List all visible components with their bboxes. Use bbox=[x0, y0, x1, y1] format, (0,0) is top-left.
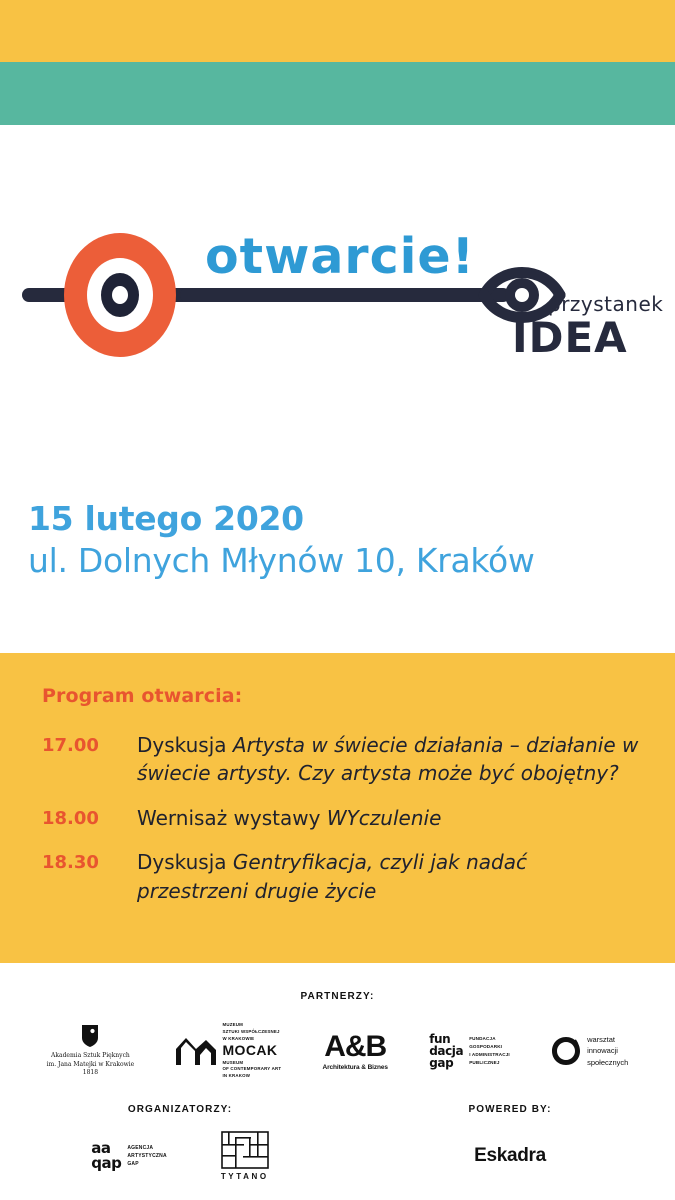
mocak-top-line-1: MUZEUM bbox=[222, 1022, 281, 1029]
brand-main-label: IDEA bbox=[512, 313, 628, 362]
program-item-text: Wernisaż wystawy WYczulenie bbox=[137, 804, 642, 832]
gap-subtitle: FUNDACJA GOSPODARKI I ADMINISTRACJI PUBL… bbox=[469, 1035, 510, 1066]
program-item-text: Dyskusja Artysta w świecie działania – d… bbox=[137, 731, 642, 788]
logo-artwork: otwarcie! przystanek IDEA bbox=[0, 225, 675, 375]
mocak-top-line-3: W KRAKOWIE bbox=[222, 1036, 281, 1043]
partner-logo-mocak: MUZEUM SZTUKI WSPÓŁCZESNEJ W KRAKOWIE MO… bbox=[175, 1022, 281, 1079]
program-item-time: 17.00 bbox=[42, 731, 137, 759]
poster-root: otwarcie! przystanek IDEA 15 lutego 2020… bbox=[0, 0, 675, 1200]
gap-mark-line-3: gap bbox=[429, 1057, 463, 1069]
wis-line-1: warsztat bbox=[587, 1034, 628, 1045]
logo-rule-right bbox=[180, 288, 510, 302]
tytano-wordmark: TYTANO bbox=[221, 1172, 269, 1181]
top-teal-band bbox=[0, 62, 675, 125]
gap-sub-line-4: PUBLICZNEJ bbox=[469, 1059, 510, 1067]
program-item-time: 18.30 bbox=[42, 848, 137, 876]
partner-mocak-text: MUZEUM SZTUKI WSPÓŁCZESNEJ W KRAKOWIE MO… bbox=[222, 1022, 281, 1079]
program-item-time: 18.00 bbox=[42, 804, 137, 832]
qap-sub-line-1: AGENCJA bbox=[127, 1144, 166, 1152]
powered-logo-row: Eskadra bbox=[360, 1125, 660, 1187]
top-yellow-band bbox=[0, 0, 675, 62]
partner-logo-ab: A&B Architektura & Biznes bbox=[322, 1032, 387, 1071]
brush-ring-icon bbox=[551, 1036, 581, 1066]
ab-wordmark: A&B bbox=[324, 1032, 386, 1062]
organizer-logo-row: aa qap AGENCJA ARTYSTYCZNA GAP bbox=[20, 1125, 340, 1187]
program-item-prefix: Dyskusja bbox=[137, 733, 233, 757]
organizer-logo-tytano: TYTANO bbox=[221, 1131, 269, 1181]
qap-mark-line-2: qap bbox=[91, 1156, 121, 1171]
powered-heading: POWERED BY: bbox=[360, 1104, 660, 1115]
partners-heading: PARTNERZY: bbox=[0, 991, 675, 1002]
mocak-top-line-2: SZTUKI WSPÓŁCZESNEJ bbox=[222, 1029, 281, 1036]
wis-subtitle: warsztat innowacji społecznych bbox=[587, 1034, 628, 1068]
partner-logo-wis: warsztat innowacji społecznych bbox=[551, 1034, 628, 1068]
qap-sub-line-3: GAP bbox=[127, 1160, 166, 1168]
organizer-logo-qap: aa qap AGENCJA ARTYSTYCZNA GAP bbox=[91, 1141, 167, 1171]
logo-wordmark: otwarcie! bbox=[205, 228, 475, 285]
mocak-bottom-line-2: OF CONTEMPORARY ART bbox=[222, 1066, 281, 1073]
program-panel: Program otwarcia: 17.00 Dyskusja Artysta… bbox=[0, 653, 675, 963]
qap-sub-line-2: ARTYSTYCZNA bbox=[127, 1152, 166, 1160]
program-item: 17.00 Dyskusja Artysta w świecie działan… bbox=[42, 731, 642, 788]
footer: PARTNERZY: Akademia Sztuk Pięknych im. J… bbox=[0, 963, 675, 1200]
event-details: 15 lutego 2020 ul. Dolnych Młynów 10, Kr… bbox=[28, 500, 648, 581]
tytano-grid-icon bbox=[221, 1131, 269, 1169]
gap-sub-line-1: FUNDACJA bbox=[469, 1035, 510, 1043]
program-item-title: WYczulenie bbox=[327, 806, 442, 830]
partner-logo-row: Akademia Sztuk Pięknych im. Jana Matejki… bbox=[0, 1015, 675, 1087]
mocak-roof-icon bbox=[175, 1036, 217, 1066]
program-list: 17.00 Dyskusja Artysta w świecie działan… bbox=[42, 731, 642, 921]
gap-sub-line-3: I ADMINISTRACJI bbox=[469, 1051, 510, 1059]
partner-logo-asp: Akademia Sztuk Pięknych im. Jana Matejki… bbox=[47, 1024, 135, 1078]
program-title: Program otwarcia: bbox=[42, 685, 242, 707]
mocak-bottom-line-3: IN KRAKOW bbox=[222, 1073, 281, 1080]
program-item: 18.30 Dyskusja Gentryfikacja, czyli jak … bbox=[42, 848, 642, 905]
partner-asp-line-1: Akademia Sztuk Pięknych bbox=[51, 1052, 130, 1061]
program-item: 18.00 Wernisaż wystawy WYczulenie bbox=[42, 804, 642, 832]
qap-subtitle: AGENCJA ARTYSTYCZNA GAP bbox=[127, 1144, 166, 1168]
program-item-prefix: Wernisaż wystawy bbox=[137, 806, 327, 830]
program-item-text: Dyskusja Gentryfikacja, czyli jak nadać … bbox=[137, 848, 642, 905]
shield-icon bbox=[80, 1024, 100, 1048]
organizers-heading: ORGANIZATORZY: bbox=[20, 1104, 340, 1115]
event-date: 15 lutego 2020 bbox=[28, 500, 648, 539]
mocak-wordmark: MOCAK bbox=[222, 1043, 281, 1058]
eskadra-wordmark: Eskadra bbox=[474, 1145, 546, 1167]
partner-logo-gap: fun dacja gap FUNDACJA GOSPODARKI I ADMI… bbox=[429, 1033, 510, 1069]
ab-subtitle: Architektura & Biznes bbox=[322, 1064, 387, 1071]
mocak-bottom-line-1: MUSEUM bbox=[222, 1060, 281, 1067]
logo-lockup: otwarcie! przystanek IDEA bbox=[0, 225, 675, 375]
gap-wordmark: fun dacja gap bbox=[429, 1033, 463, 1069]
partner-asp-line-3: 1818 bbox=[83, 1069, 98, 1078]
wis-line-3: społecznych bbox=[587, 1057, 628, 1068]
qap-wordmark: aa qap bbox=[91, 1141, 121, 1171]
event-address: ul. Dolnych Młynów 10, Kraków bbox=[28, 541, 648, 581]
partner-asp-line-2: im. Jana Matejki w Krakowie bbox=[47, 1061, 135, 1070]
wis-line-2: innowacji bbox=[587, 1045, 628, 1056]
target-pupil bbox=[112, 286, 128, 304]
program-item-prefix: Dyskusja bbox=[137, 850, 233, 874]
gap-sub-line-2: GOSPODARKI bbox=[469, 1043, 510, 1051]
